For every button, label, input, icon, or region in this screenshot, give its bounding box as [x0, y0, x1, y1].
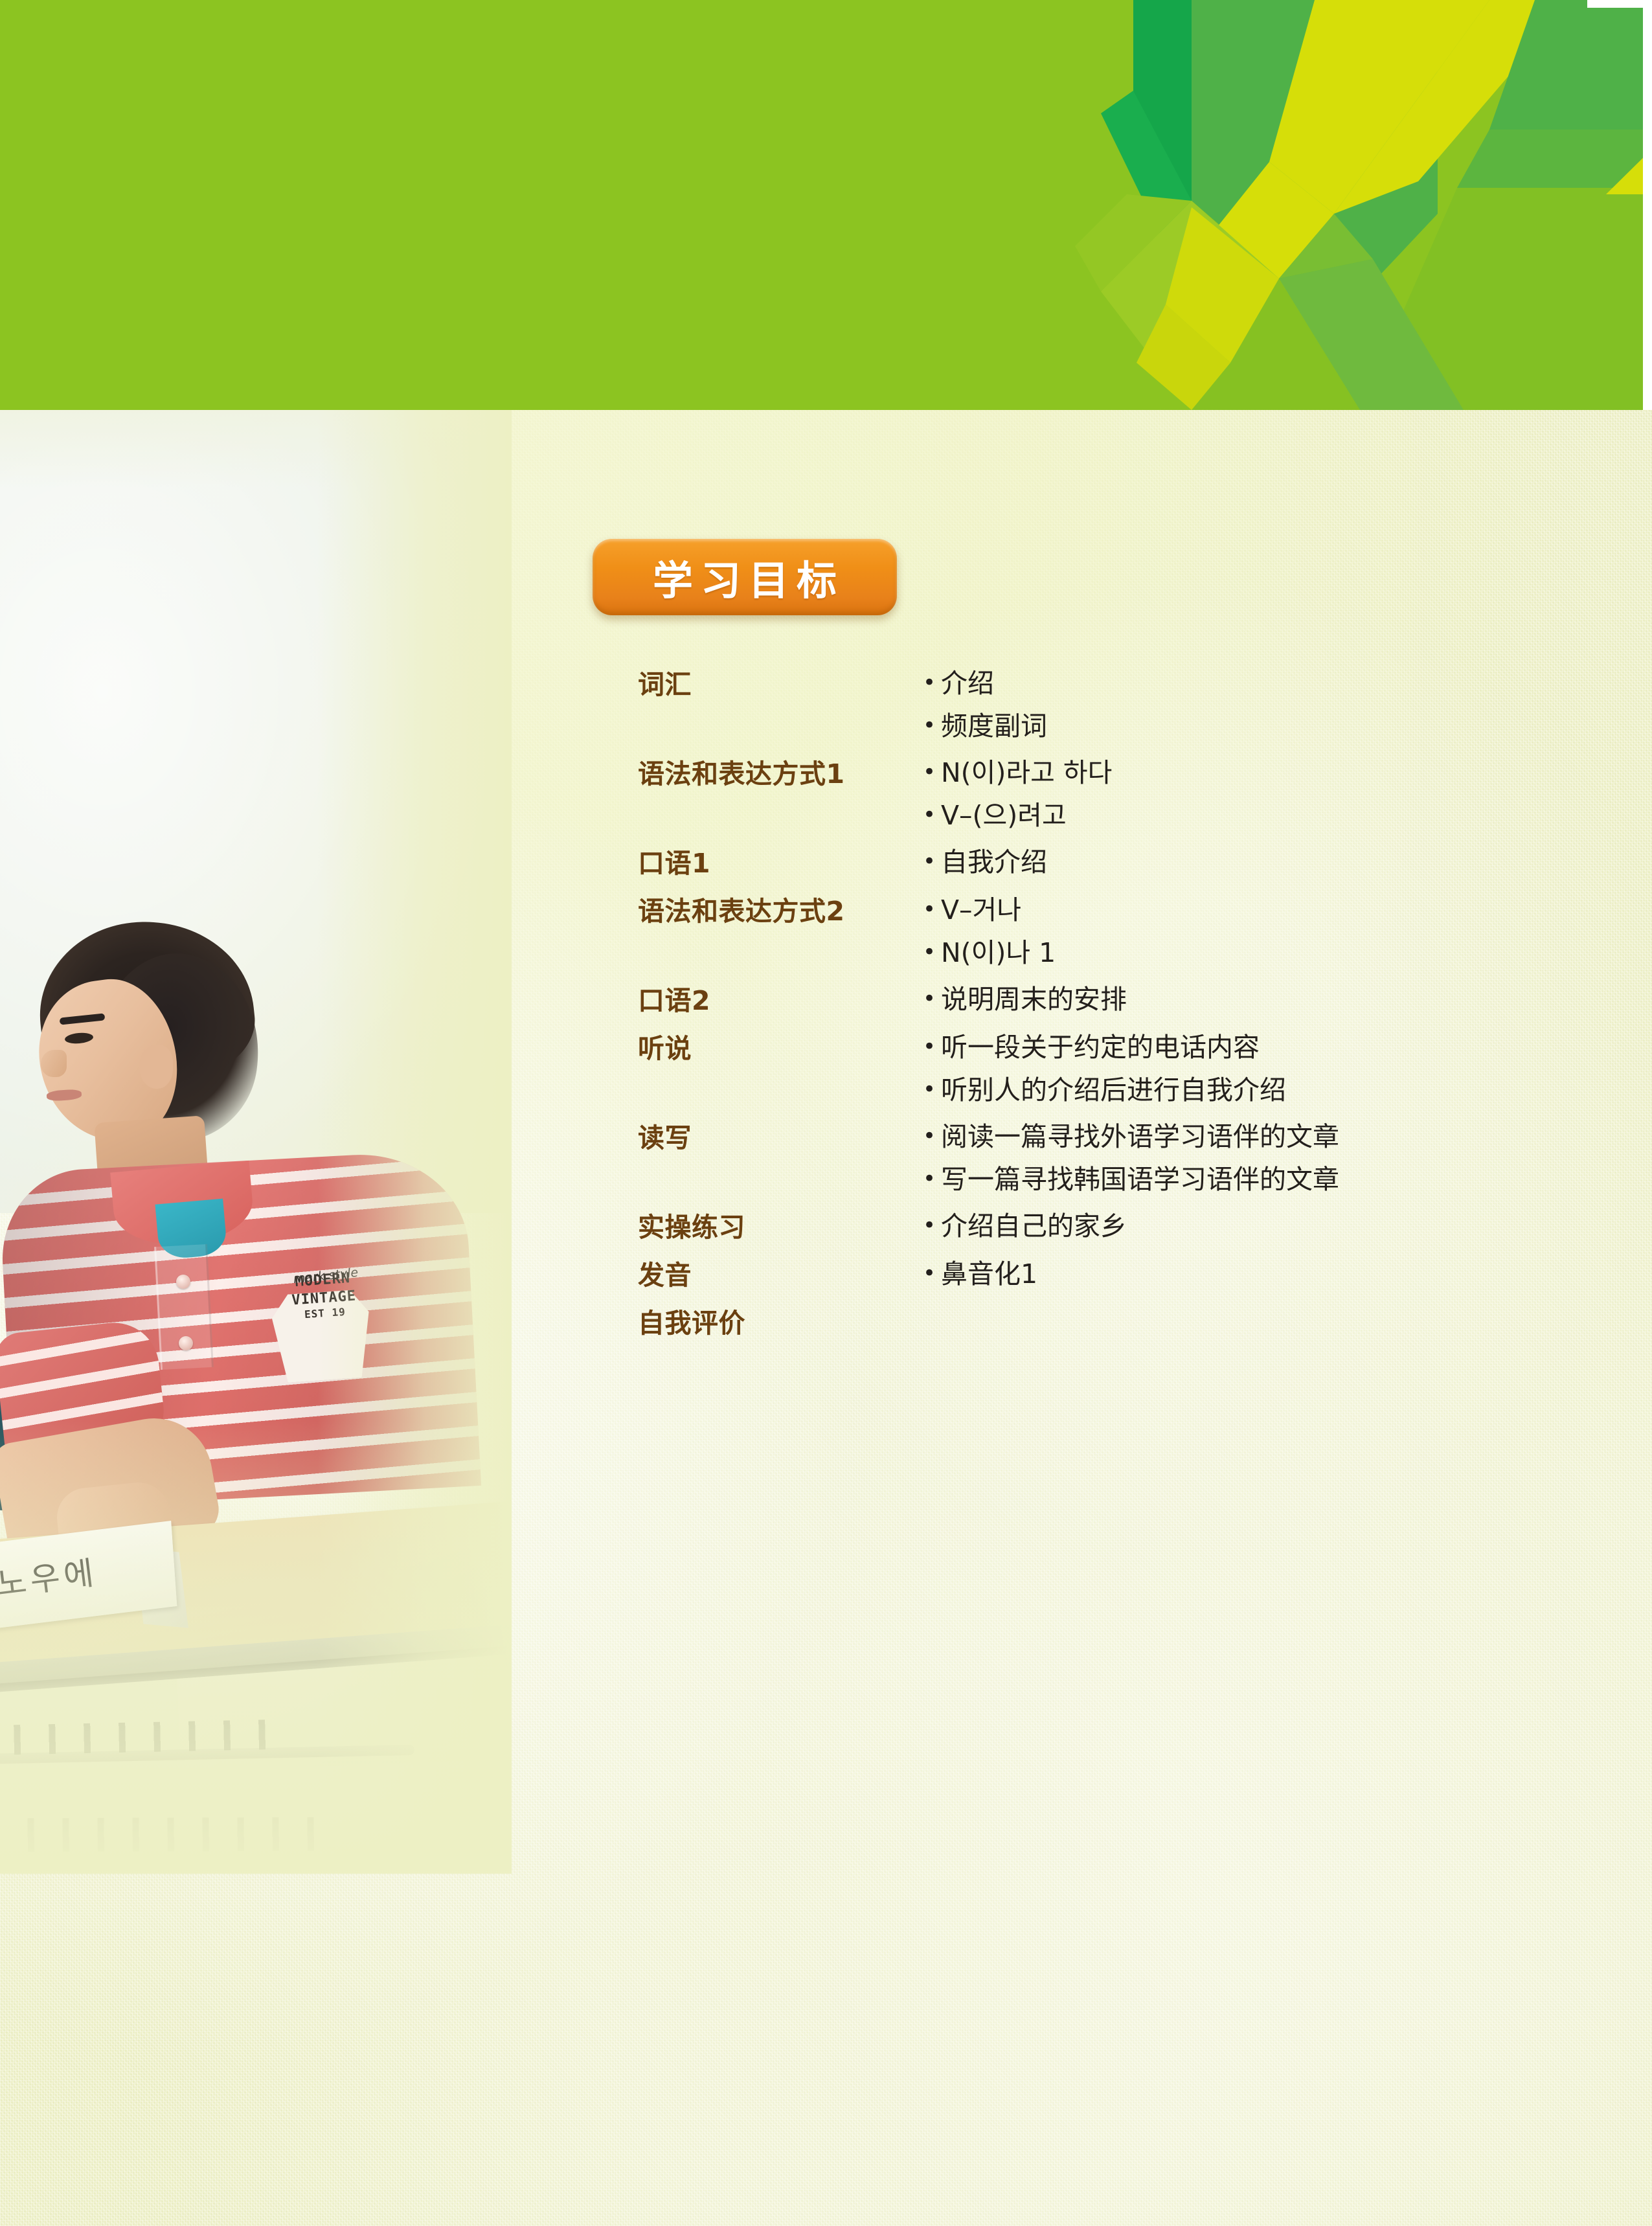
goal-item-text: N(이)나 1: [941, 937, 1056, 969]
goal-row: 发音•鼻音化1: [638, 1258, 1577, 1291]
goal-item-text: 阅读一篇寻找外语学习语伴的文章: [941, 1120, 1339, 1153]
goal-label: 口语1: [638, 846, 923, 880]
goal-item-text: 说明周末的安排: [941, 983, 1127, 1016]
goal-items: •V–거나•N(이)나 1: [923, 894, 1577, 969]
learning-objectives-title: 学习目标: [645, 548, 844, 606]
bullet-icon: •: [923, 1125, 941, 1147]
goal-label: 词汇: [638, 667, 923, 701]
goal-item-text: N(이)라고 하다: [941, 756, 1112, 789]
shirt-button-top: [176, 1275, 190, 1289]
goal-item: •自我介绍: [923, 846, 1577, 878]
shirt-placket: [154, 1244, 214, 1370]
goal-row: 口语2•说明周末的安排: [638, 983, 1577, 1017]
bullet-icon: •: [923, 1078, 941, 1100]
goal-item: •阅读一篇寻找外语学习语伴的文章: [923, 1120, 1577, 1153]
goal-label: 发音: [638, 1258, 923, 1291]
bullet-icon: •: [923, 761, 941, 783]
goal-item-text: 介绍: [941, 667, 994, 699]
bullet-icon: •: [923, 1262, 941, 1284]
bullet-icon: •: [923, 850, 941, 872]
goal-item: •介绍: [923, 667, 1577, 699]
bullet-icon: •: [923, 1036, 941, 1058]
goal-item-text: 频度副词: [941, 710, 1047, 742]
header-top-white-notch: [1587, 0, 1652, 8]
goal-label: 实操练习: [638, 1210, 923, 1244]
goal-row: 语法和表达方式1•N(이)라고 하다•V–(으)려고: [638, 756, 1577, 832]
goal-item: •听别人的介绍后进行自我介绍: [923, 1074, 1577, 1106]
goal-item: •频度副词: [923, 710, 1577, 742]
classroom-photo: mark style MODERN VINTAGE EST 19 이노우에: [0, 410, 512, 1874]
goal-item-text: 听别人的介绍后进行自我介绍: [941, 1074, 1286, 1106]
goal-item-text: 介绍自己的家乡: [941, 1210, 1127, 1242]
bullet-icon: •: [923, 1214, 941, 1236]
header-band: [0, 0, 1652, 410]
goal-label: 语法和表达方式2: [638, 894, 923, 927]
goal-row: 词汇•介绍•频度副词: [638, 667, 1577, 742]
goal-row: 读写•阅读一篇寻找外语学习语伴的文章•写一篇寻找韩国语学习语伴的文章: [638, 1120, 1577, 1196]
textbook-page: mark style MODERN VINTAGE EST 19 이노우에: [0, 0, 1652, 2226]
goal-item-text: 听一段关于约定的电话内容: [941, 1031, 1260, 1063]
goal-items: •听一段关于约定的电话内容•听别人的介绍后进行自我介绍: [923, 1031, 1577, 1106]
goal-row: 实操练习•介绍自己的家乡: [638, 1210, 1577, 1244]
bullet-icon: •: [923, 714, 941, 736]
goal-item: •N(이)라고 하다: [923, 756, 1577, 789]
goal-item-text: 写一篇寻找韩国语学习语伴的文章: [941, 1163, 1339, 1196]
goal-items: •介绍•频度副词: [923, 667, 1577, 742]
goal-item: •N(이)나 1: [923, 937, 1577, 969]
bullet-icon: •: [923, 988, 941, 1010]
goal-row: 听说•听一段关于约定的电话内容•听别人的介绍后进行自我介绍: [638, 1031, 1577, 1106]
goal-label: 自我评价: [638, 1306, 923, 1339]
bullet-icon: •: [923, 1168, 941, 1190]
goal-row: 口语1•自我介绍: [638, 846, 1577, 880]
bullet-icon: •: [923, 898, 941, 920]
bullet-icon: •: [923, 672, 941, 694]
goal-items: •阅读一篇寻找外语学习语伴的文章•写一篇寻找韩国语学习语伴的文章: [923, 1120, 1577, 1196]
goal-item-text: V–거나: [941, 894, 1021, 926]
goal-item: •V–거나: [923, 894, 1577, 926]
goal-item: •V–(으)려고: [923, 799, 1577, 832]
learning-objectives-badge: 学习目标: [593, 539, 897, 615]
goal-label: 口语2: [638, 983, 923, 1017]
header-right-white-gutter: [1643, 0, 1652, 410]
goal-item: •听一段关于约定的电话内容: [923, 1031, 1577, 1063]
student-nose: [41, 1050, 67, 1077]
goal-items: •鼻音化1: [923, 1258, 1577, 1290]
goal-item-text: 鼻音化1: [941, 1258, 1037, 1290]
goal-items: •N(이)라고 하다•V–(으)려고: [923, 756, 1577, 832]
bullet-icon: •: [923, 804, 941, 826]
goal-item: •写一篇寻找韩国语学习语伴的文章: [923, 1163, 1577, 1196]
goal-item: •介绍自己的家乡: [923, 1210, 1577, 1242]
goal-items: •说明周末的安排: [923, 983, 1577, 1016]
goal-label: 听说: [638, 1031, 923, 1065]
learning-objectives-list: 词汇•介绍•频度副词语法和表达方式1•N(이)라고 하다•V–(으)려고口语1•…: [638, 667, 1577, 1354]
goal-item: •说明周末的安排: [923, 983, 1577, 1016]
student-ear: [139, 1045, 173, 1089]
goal-row: 语法和表达方式2•V–거나•N(이)나 1: [638, 894, 1577, 969]
bullet-icon: •: [923, 941, 941, 963]
goal-row: 自我评价: [638, 1306, 1577, 1339]
photo-bottom-fade: [0, 1420, 512, 1874]
shirt-button-bottom: [179, 1336, 193, 1350]
goal-item-text: 自我介绍: [941, 846, 1047, 878]
goal-items: •自我介绍: [923, 846, 1577, 878]
goal-item: •鼻音化1: [923, 1258, 1577, 1290]
header-geometric-pattern: [0, 0, 1652, 410]
goal-label: 读写: [638, 1120, 923, 1154]
goal-label: 语法和表达方式1: [638, 756, 923, 790]
goal-item-text: V–(으)려고: [941, 799, 1067, 832]
goal-items: •介绍自己的家乡: [923, 1210, 1577, 1242]
